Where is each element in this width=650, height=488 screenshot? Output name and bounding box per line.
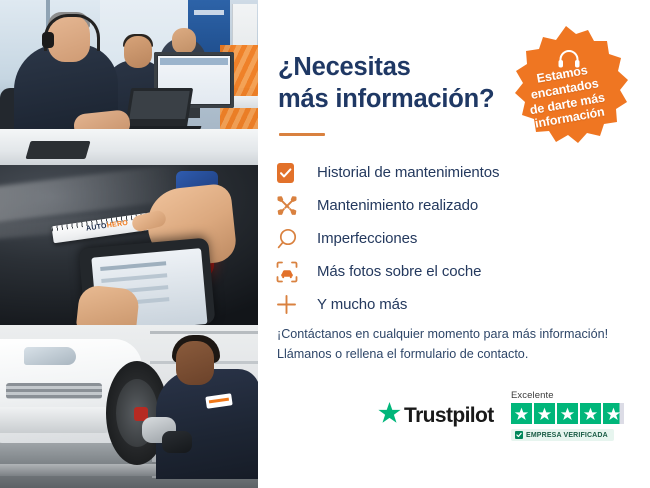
call-center-agents-photo xyxy=(0,0,258,165)
second-agent-head xyxy=(124,36,152,68)
trustpilot-star-icon xyxy=(534,403,555,424)
ruler-brand-auto: AUTO xyxy=(86,223,108,233)
trustpilot-star-icon-partial xyxy=(603,403,624,424)
page-title-line-1: ¿Necesitas xyxy=(278,52,518,84)
feature-label: Imperfecciones xyxy=(306,230,417,247)
laptop-screen xyxy=(125,88,193,128)
verified-business-badge: EMPRESA VERIFICADA xyxy=(511,429,614,441)
mechanic-glove-right xyxy=(162,431,192,453)
trustpilot-star-icon xyxy=(580,403,601,424)
feature-label: Mantenimiento realizado xyxy=(306,197,478,214)
verified-business-text: EMPRESA VERIFICADA xyxy=(526,432,608,439)
title-divider xyxy=(279,133,325,136)
feature-item-maintenance-done: Mantenimiento realizado xyxy=(276,189,636,222)
tools-wrench-screwdriver-icon xyxy=(276,193,306,219)
page-title: ¿Necesitas más información? xyxy=(278,52,518,115)
headset-earcup xyxy=(42,32,54,48)
content-panel: ¿Necesitas más información? Estamos enca… xyxy=(258,0,650,488)
car-inspection-ruler-photo: AUTOHERO xyxy=(0,165,258,325)
check-square-icon xyxy=(515,431,523,439)
trustpilot-star-icon xyxy=(378,402,401,429)
trustpilot-rating-label: Excelente xyxy=(511,390,639,401)
background-person-head xyxy=(172,28,196,54)
ruler-brand-hero: HERO xyxy=(106,220,128,230)
feature-item-imperfections: Imperfecciones xyxy=(276,222,636,255)
magnifying-glass-icon xyxy=(276,226,306,252)
trustpilot-rating: Excelente xyxy=(511,390,639,443)
car-photo-frame-icon xyxy=(276,259,306,285)
trustpilot-widget[interactable]: Trustpilot Excelente xyxy=(378,390,640,448)
feature-label: Más fotos sobre el coche xyxy=(306,263,481,280)
plus-icon xyxy=(276,292,306,318)
mechanic-head xyxy=(176,341,214,385)
trustpilot-logo[interactable]: Trustpilot xyxy=(378,402,494,429)
contact-copy: ¡Contáctanos en cualquier momento para m… xyxy=(277,324,637,364)
mechanic-wheel-inspection-photo xyxy=(0,325,258,488)
support-badge: Estamos encantados de darte más informac… xyxy=(501,23,631,153)
page-title-line-2: más información? xyxy=(278,84,518,116)
feature-list: Historial de mantenimientos xyxy=(276,156,636,321)
car-bumper xyxy=(0,407,114,433)
car-grille xyxy=(6,383,102,399)
document-check-icon xyxy=(276,160,306,186)
car-lift-ramp xyxy=(0,464,168,476)
trustpilot-star-icon xyxy=(557,403,578,424)
monitor-screen-content xyxy=(160,58,228,65)
trustpilot-star-icon xyxy=(511,403,532,424)
trustpilot-stars xyxy=(511,403,639,424)
car-headlight xyxy=(24,347,76,365)
contact-line-2: Llámanos o rellena el formulario de cont… xyxy=(277,344,637,364)
promo-banner: AUTOHERO xyxy=(0,0,650,488)
feature-label: Y mucho más xyxy=(306,296,407,313)
trustpilot-logo-text: Trustpilot xyxy=(404,404,494,428)
feature-item-maintenance-history: Historial de mantenimientos xyxy=(276,156,636,189)
feature-label: Historial de mantenimientos xyxy=(306,164,499,181)
photo-collage: AUTOHERO xyxy=(0,0,258,488)
feature-item-more-photos: Más fotos sobre el coche xyxy=(276,255,636,288)
contact-line-1: ¡Contáctanos en cualquier momento para m… xyxy=(277,324,637,344)
desk-tablet xyxy=(25,141,90,159)
feature-item-much-more: Y mucho más xyxy=(276,288,636,321)
